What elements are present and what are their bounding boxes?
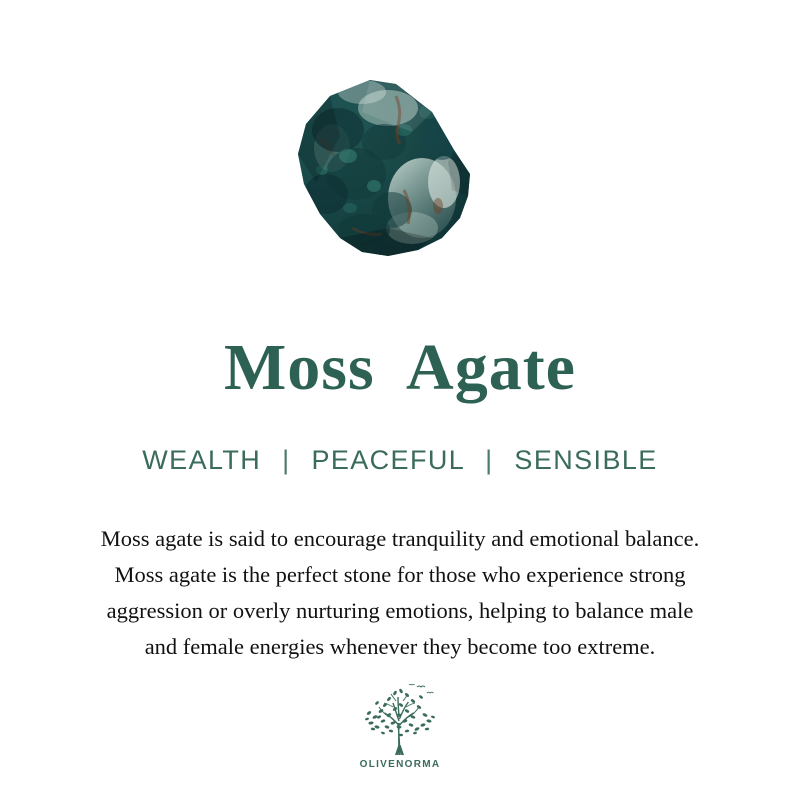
keyword-separator: | (473, 444, 505, 476)
brand-logo: OLIVENORMA (355, 683, 445, 779)
keyword-sensible: SENSIBLE (514, 445, 657, 475)
description-line: Moss agate is said to encourage tranquil… (40, 521, 760, 557)
keyword-wealth: WEALTH (142, 445, 261, 475)
page-title: Moss Agate (0, 335, 800, 401)
brand-wordmark: OLIVENORMA (355, 759, 445, 770)
keyword-separator: | (270, 444, 302, 476)
keyword-peaceful: PEACEFUL (311, 445, 464, 475)
stone-image (292, 78, 478, 262)
olive-tree-icon (355, 683, 445, 757)
description-line: aggression or overly nurturing emotions,… (40, 593, 760, 629)
description-line: Moss agate is the perfect stone for thos… (40, 557, 760, 593)
moss-agate-info-card: Moss Agate WEALTH | PEACEFUL | SENSIBLE … (0, 0, 800, 800)
description-line: and female energies whenever they become… (40, 629, 760, 665)
keyword-list: WEALTH | PEACEFUL | SENSIBLE (0, 444, 800, 476)
description-text: Moss agate is said to encourage tranquil… (40, 521, 760, 665)
moss-agate-stone-graphic (292, 78, 478, 262)
